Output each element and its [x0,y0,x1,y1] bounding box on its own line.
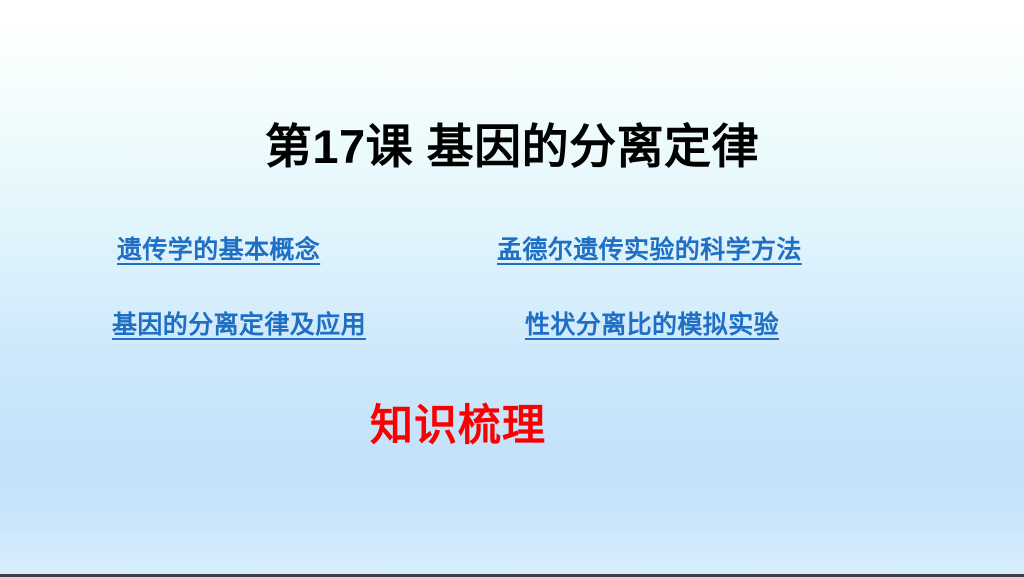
section-heading-knowledge-review: 知识梳理 [0,400,1024,454]
link-mendel-experiment-method[interactable]: 孟德尔遗传实验的科学方法 [497,234,802,268]
presentation-slide: 第17课 基因的分离定律 遗传学的基本概念 孟德尔遗传实验的科学方法 基因的分离… [0,0,1024,577]
link-genetics-basic-concepts[interactable]: 遗传学的基本概念 [117,234,320,268]
link-segregation-law-application[interactable]: 基因的分离定律及应用 [112,309,366,343]
link-trait-ratio-simulation[interactable]: 性状分离比的模拟实验 [525,309,779,343]
page-title: 第17课 基因的分离定律 [0,119,1024,174]
